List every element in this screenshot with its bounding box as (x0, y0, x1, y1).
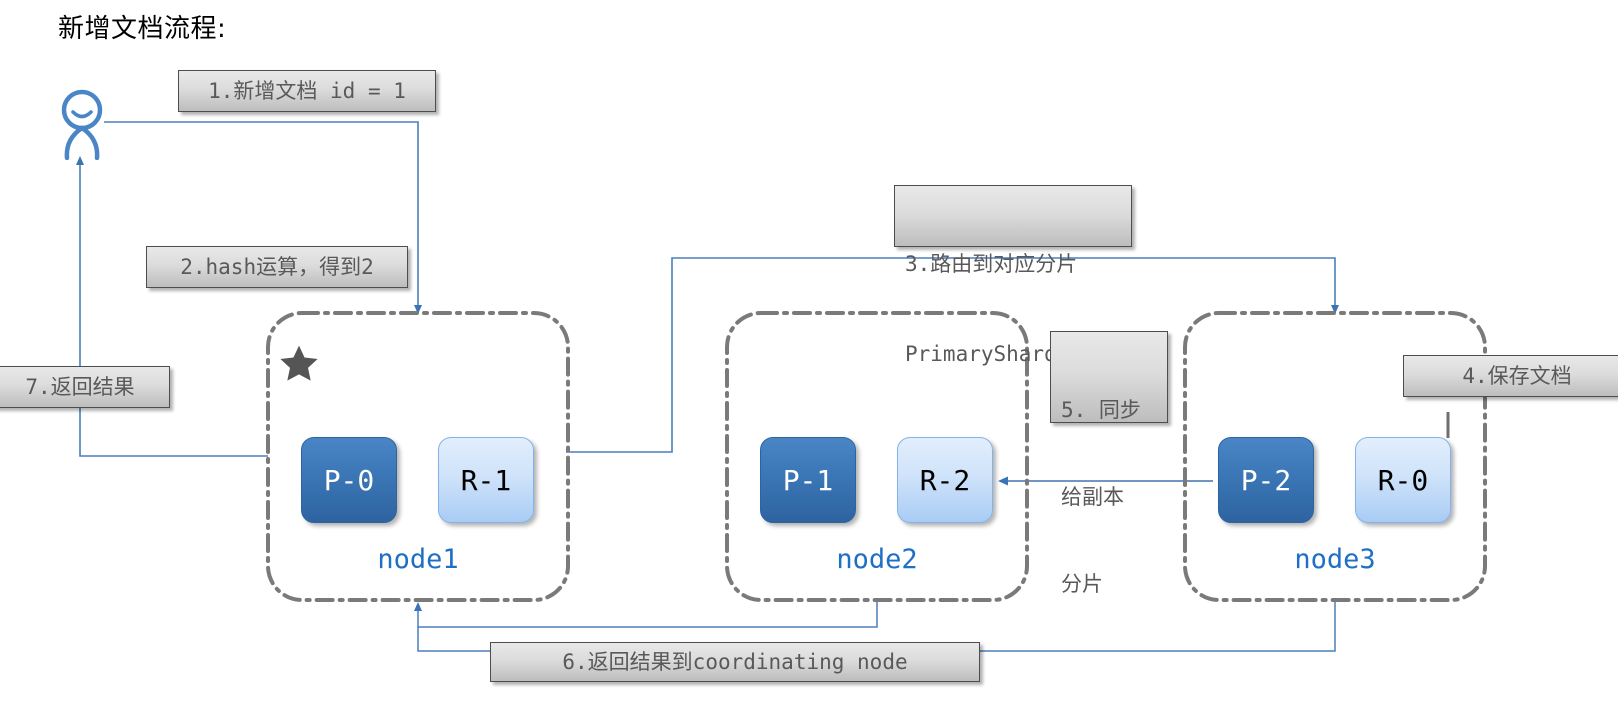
page-title: 新增文档流程: (58, 8, 226, 45)
note-step6: 6.返回结果到coordinating node (490, 642, 980, 682)
note-step5-line3: 分片 (1061, 570, 1157, 599)
note-step3: 3.路由到对应分片 PrimaryShard2 (894, 185, 1132, 247)
shard-p-1[interactable]: P-1 (760, 437, 856, 523)
actor-icon (52, 88, 114, 160)
star-icon (276, 341, 322, 387)
note-step5-line2: 给副本 (1061, 483, 1157, 512)
shard-r-2[interactable]: R-2 (897, 437, 993, 523)
node-label-node3: node3 (1185, 544, 1485, 575)
node-label-node2: node2 (727, 544, 1027, 575)
note-step5: 5. 同步 给副本 分片 (1050, 331, 1168, 423)
shard-p-2[interactable]: P-2 (1218, 437, 1314, 523)
diagram-canvas: 新增文档流程: 1.新增文档 id = 1 2.hash运算，得到2 3.路由到… (0, 0, 1618, 711)
connector-step6-node2-to-node1 (418, 600, 877, 627)
note-step1: 1.新增文档 id = 1 (178, 70, 436, 112)
shard-r-0[interactable]: R-0 (1355, 437, 1451, 523)
connector-step7-to-actor (80, 158, 268, 456)
note-step5-line1: 5. 同步 (1061, 396, 1157, 425)
note-step3-line1: 3.路由到对应分片 (905, 249, 1121, 279)
note-step7: 7.返回结果 (0, 366, 170, 408)
node-label-node1: node1 (268, 544, 568, 575)
shard-p-0[interactable]: P-0 (301, 437, 397, 523)
shard-r-1[interactable]: R-1 (438, 437, 534, 523)
note-step2: 2.hash运算，得到2 (146, 246, 408, 288)
